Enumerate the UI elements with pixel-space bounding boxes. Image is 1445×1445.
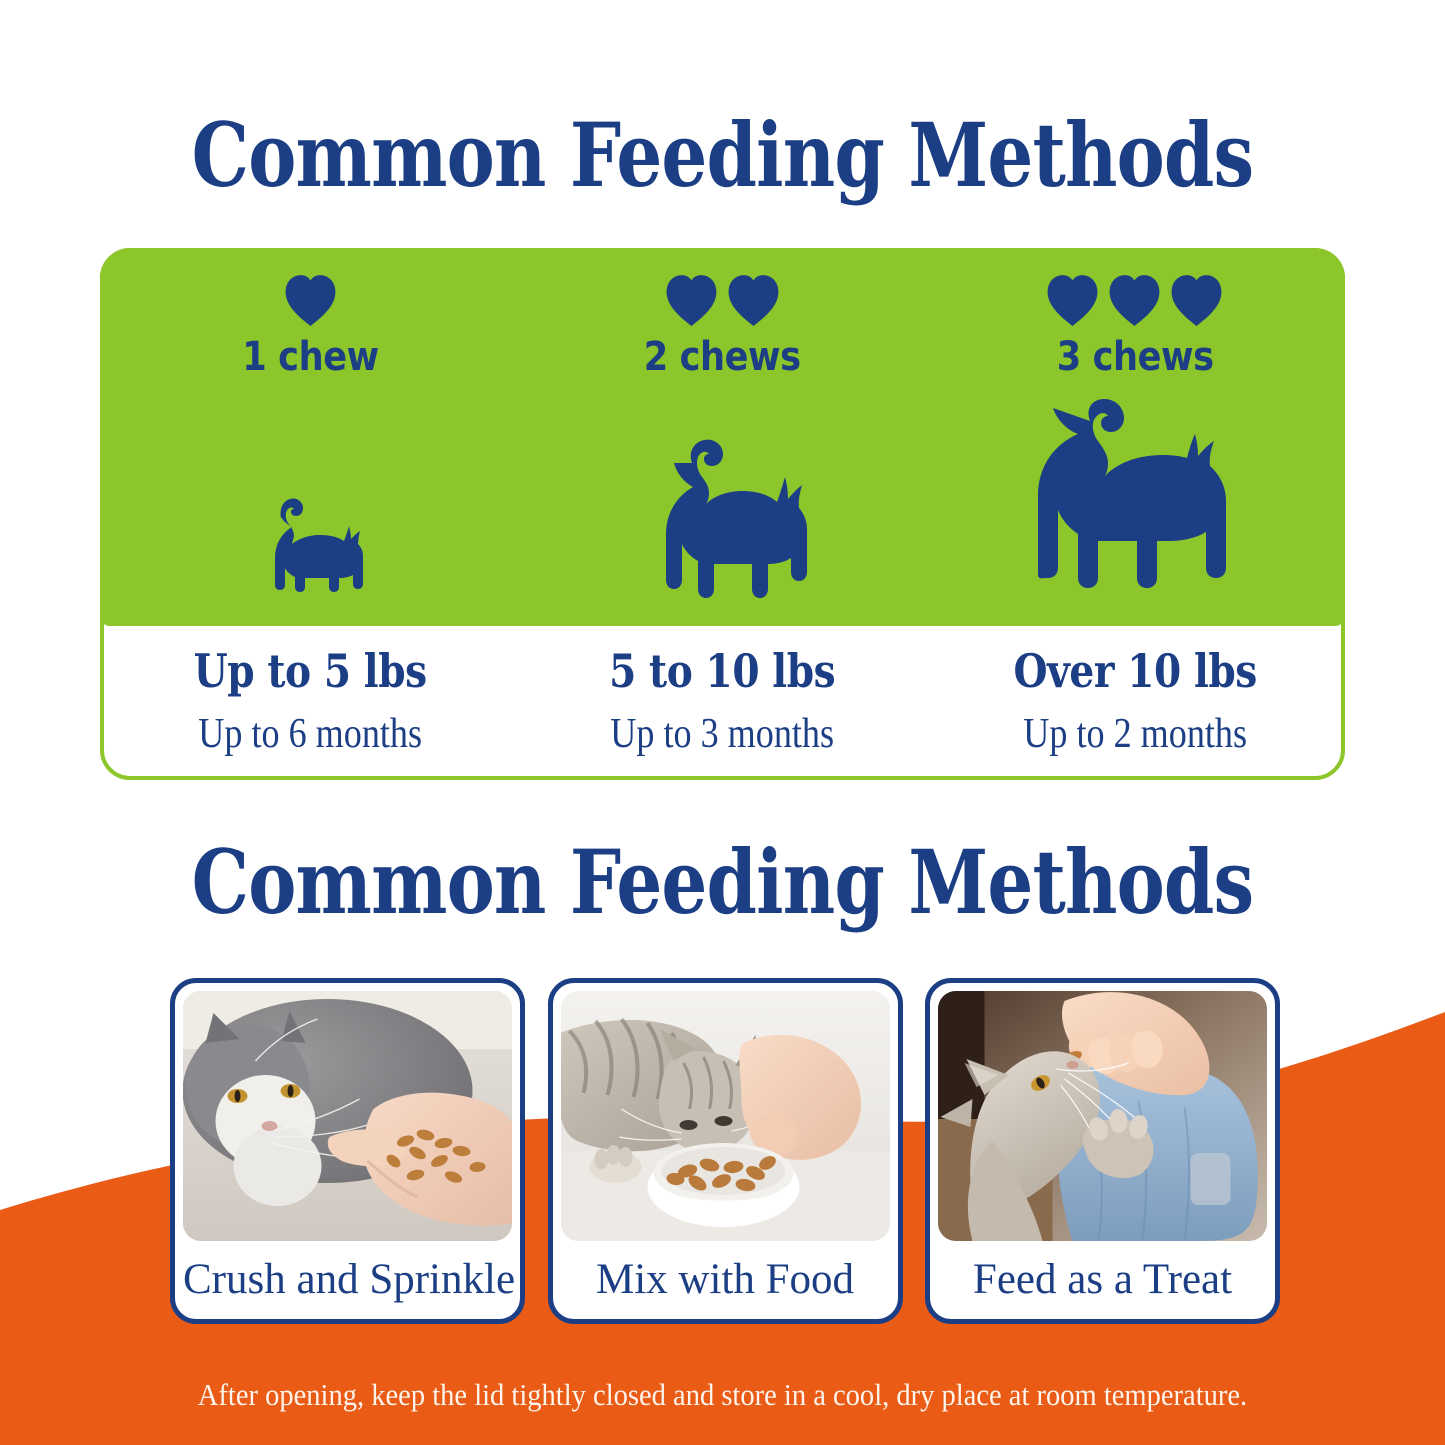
heart-icon [664, 274, 719, 326]
small-cat-silhouette-icon [235, 484, 385, 614]
duration-label-1: Up to 6 months [133, 710, 488, 758]
heart-icon [1107, 274, 1162, 326]
method-label-3: Feed as a Treat [938, 1241, 1267, 1319]
hearts-group-1 [283, 274, 338, 328]
heart-icon [283, 274, 338, 326]
feeding-chart-column-3: 3 chews Over 10 lbs Up to 2 months [929, 252, 1341, 776]
weight-range-label-2: 5 to 10 lbs [547, 644, 897, 698]
method-card-crush-and-sprinkle[interactable]: Crush and Sprinkle [170, 978, 525, 1324]
cream-cat-taking-treat-from-hand-photo [938, 991, 1267, 1241]
chew-count-label-2: 2 chews [644, 334, 801, 380]
feeding-chart-column-1: 1 chew Up to 5 lbs Up to 6 months [104, 252, 516, 776]
tabby-cat-eating-from-bowl-photo [561, 991, 890, 1241]
duration-label-3: Up to 2 months [958, 710, 1313, 758]
duration-label-2: Up to 3 months [545, 710, 900, 758]
feeding-chart-column-2: 2 chews 5 to 10 lbs Up to 3 months [516, 252, 928, 776]
page-title-primary: Common Feeding Methods [130, 103, 1315, 207]
page-title-secondary: Common Feeding Methods [130, 830, 1315, 934]
storage-instructions-note: After opening, keep the lid tightly clos… [58, 1377, 1387, 1413]
hearts-group-2 [664, 274, 781, 328]
heart-icon [1169, 274, 1224, 326]
method-label-1: Crush and Sprinkle [183, 1241, 512, 1319]
feeding-methods-row: Crush and Sprinkle [170, 978, 1280, 1324]
chew-count-label-3: 3 chews [1056, 334, 1213, 380]
weight-range-label-1: Up to 5 lbs [135, 644, 485, 698]
method-label-2: Mix with Food [561, 1241, 890, 1319]
grey-cat-sniffing-kibble-in-hand-photo [183, 991, 512, 1241]
method-card-feed-as-a-treat[interactable]: Feed as a Treat [925, 978, 1280, 1324]
heart-icon [1045, 274, 1100, 326]
large-cat-silhouette-icon [1017, 399, 1252, 614]
method-card-mix-with-food[interactable]: Mix with Food [548, 978, 903, 1324]
heart-icon [726, 274, 781, 326]
feeding-chart-card: 1 chew Up to 5 lbs Up to 6 months 2 chew… [100, 248, 1345, 780]
weight-range-label-3: Over 10 lbs [960, 644, 1310, 698]
hearts-group-3 [1045, 274, 1224, 328]
chew-count-label-1: 1 chew [242, 334, 378, 380]
medium-cat-silhouette-icon [630, 439, 815, 614]
